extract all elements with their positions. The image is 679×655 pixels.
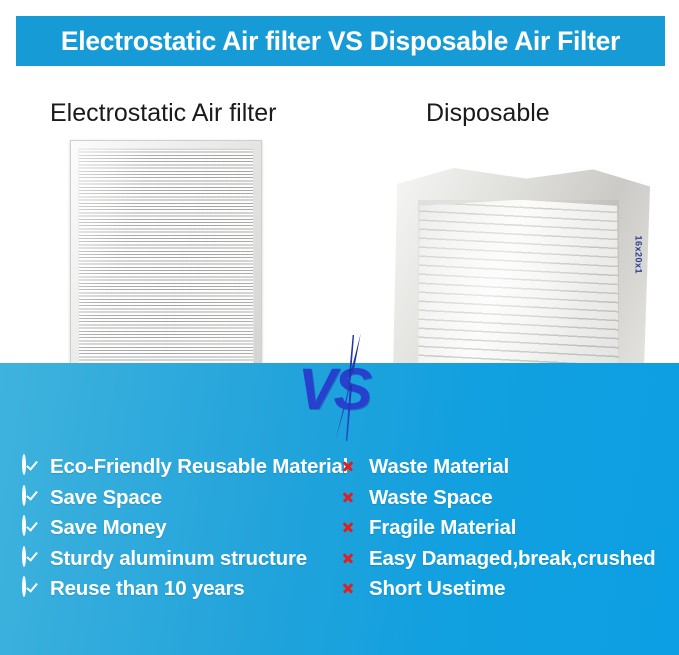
x-circle-icon	[338, 487, 360, 509]
list-item: Save Money	[22, 513, 340, 544]
list-item: Easy Damaged,break,crushed	[338, 544, 668, 575]
list-item: Fragile Material	[338, 513, 668, 544]
x-circle-icon	[338, 548, 360, 570]
left-column-caption: Electrostatic Air filter	[50, 101, 276, 126]
header-banner: Electrostatic Air filter VS Disposable A…	[16, 16, 665, 66]
vs-label: VS	[298, 361, 369, 419]
cons-item-label: Short Usetime	[366, 579, 505, 600]
list-item: Waste Space	[338, 483, 668, 514]
cons-item-label: Waste Space	[366, 488, 493, 509]
x-circle-icon	[338, 578, 360, 600]
x-circle-icon	[338, 517, 360, 539]
cons-list: Waste Material Waste Space Fragile Mater…	[338, 452, 668, 605]
pros-item-label: Reuse than 10 years	[50, 579, 244, 600]
pros-item-label: Save Space	[50, 488, 162, 509]
list-item: Waste Material	[338, 452, 668, 483]
check-circle-icon	[22, 456, 44, 478]
product-comparison-infographic: Electrostatic Air filter VS Disposable A…	[0, 0, 679, 655]
cons-item-label: Waste Material	[366, 457, 509, 478]
page-title: Electrostatic Air filter VS Disposable A…	[61, 28, 620, 55]
vs-badge: VS	[296, 333, 396, 441]
check-circle-icon	[22, 578, 44, 600]
cons-item-label: Fragile Material	[366, 518, 516, 539]
check-circle-icon	[22, 517, 44, 539]
pros-list: Eco-Friendly Reusable Material Save Spac…	[22, 452, 340, 605]
list-item: Reuse than 10 years	[22, 574, 340, 605]
list-item: Save Space	[22, 483, 340, 514]
pros-item-label: Sturdy aluminum structure	[50, 549, 307, 570]
cons-item-label: Easy Damaged,break,crushed	[366, 549, 656, 570]
right-column-caption: Disposable	[426, 101, 550, 126]
check-circle-icon	[22, 548, 44, 570]
list-item: Sturdy aluminum structure	[22, 544, 340, 575]
pros-item-label: Eco-Friendly Reusable Material	[50, 457, 348, 478]
list-item: Eco-Friendly Reusable Material	[22, 452, 340, 483]
x-circle-icon	[338, 456, 360, 478]
list-item: Short Usetime	[338, 574, 668, 605]
filter-size-label: 16x20x1	[634, 235, 644, 274]
pros-item-label: Save Money	[50, 518, 167, 539]
check-circle-icon	[22, 487, 44, 509]
